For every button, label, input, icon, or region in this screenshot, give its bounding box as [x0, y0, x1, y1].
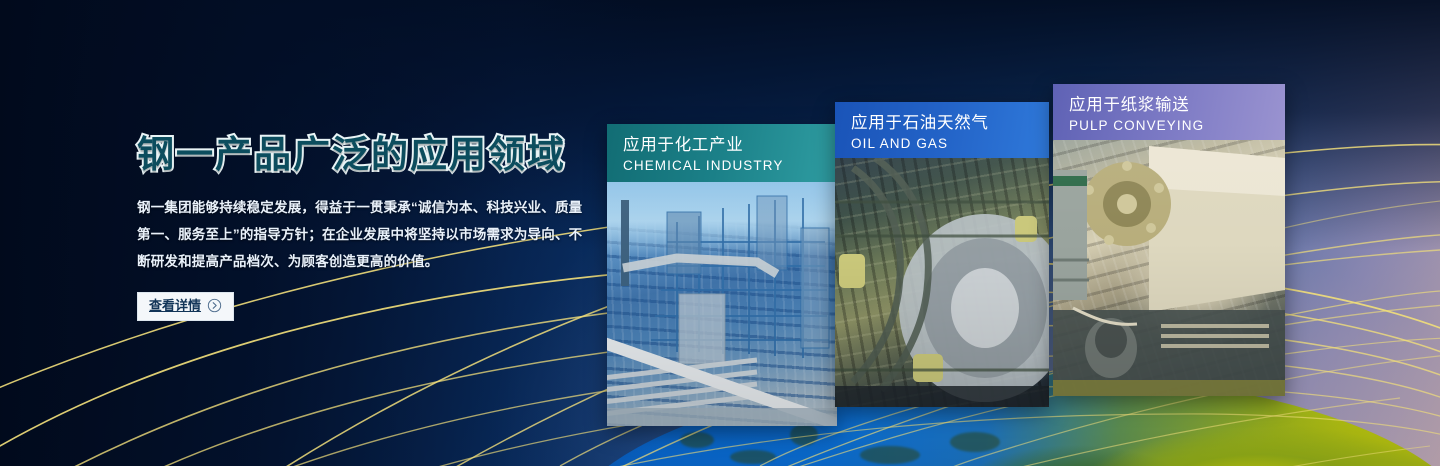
hero-description: 钢一集团能够持续稳定发展，得益于一贯秉承“诚信为本、科技兴业、质量第一、服务至上…: [137, 194, 585, 276]
card-title-zh: 应用于化工产业: [623, 135, 837, 156]
application-card-chemical[interactable]: 应用于化工产业 CHEMICAL INDUSTRY: [607, 124, 837, 426]
hero-banner: 钢一产品广泛的应用领域 钢一集团能够持续稳定发展，得益于一贯秉承“诚信为本、科技…: [0, 0, 1440, 466]
hero-copy: 钢一产品广泛的应用领域 钢一集团能够持续稳定发展，得益于一贯秉承“诚信为本、科技…: [137, 133, 607, 321]
card-header-oil: 应用于石油天然气 OIL AND GAS: [835, 102, 1049, 158]
chevron-right-circle-icon: [207, 298, 222, 313]
card-image-chemical: [607, 182, 837, 426]
application-card-oil-and-gas[interactable]: 应用于石油天然气 OIL AND GAS: [835, 102, 1049, 407]
card-header-chemical: 应用于化工产业 CHEMICAL INDUSTRY: [607, 124, 837, 182]
application-card-pulp-conveying[interactable]: 应用于纸浆输送 PULP CONVEYING: [1053, 84, 1285, 396]
card-title-en: OIL AND GAS: [851, 135, 1049, 153]
view-details-button[interactable]: 查看详情: [137, 292, 234, 321]
view-details-label: 查看详情: [149, 297, 201, 315]
card-title-en: CHEMICAL INDUSTRY: [623, 157, 837, 175]
page-title: 钢一产品广泛的应用领域: [137, 133, 607, 177]
card-title-zh: 应用于石油天然气: [851, 113, 1049, 134]
card-header-pulp: 应用于纸浆输送 PULP CONVEYING: [1053, 84, 1285, 140]
card-title-en: PULP CONVEYING: [1069, 117, 1285, 135]
card-title-zh: 应用于纸浆输送: [1069, 95, 1285, 116]
card-image-oil: [835, 158, 1049, 407]
card-image-pulp: [1053, 140, 1285, 396]
